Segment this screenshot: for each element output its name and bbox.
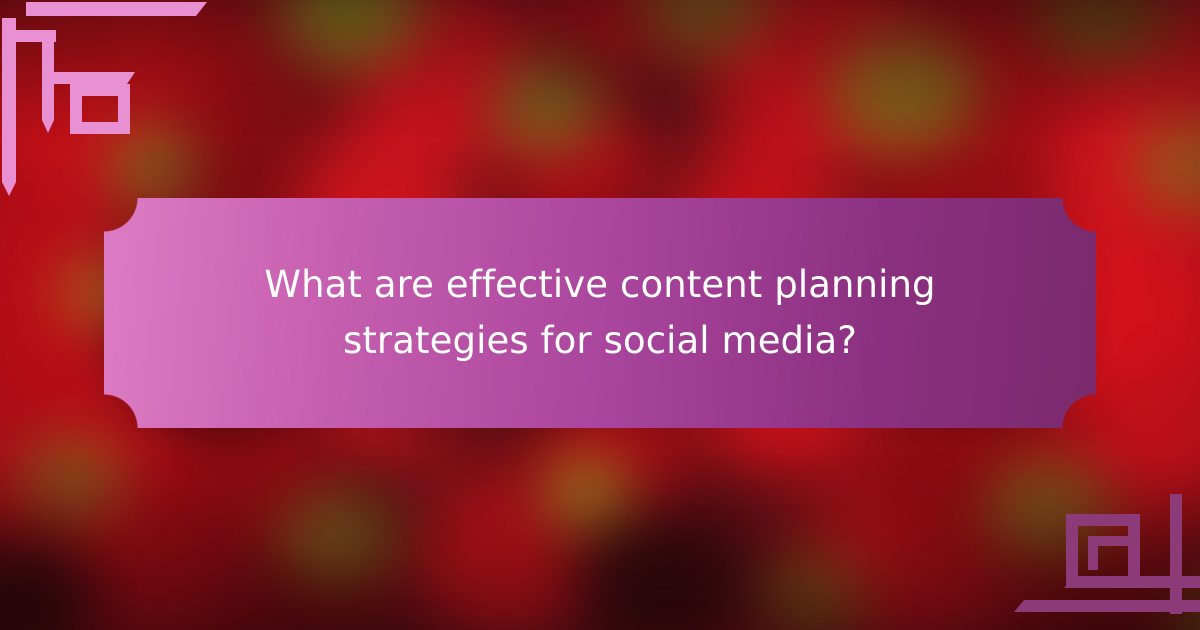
ornament-br-square-left	[1066, 514, 1078, 588]
ornament-br-second-bar	[1064, 576, 1200, 588]
ornament-br-outer-vertical	[1170, 494, 1182, 614]
ornament-second-bar	[54, 72, 135, 84]
quote-card: What are effective content planning stra…	[0, 0, 1200, 630]
ornament-square-bottom	[70, 122, 130, 134]
top-left-corner-ornament	[0, 0, 230, 210]
ornament-outer-vertical	[2, 18, 16, 196]
headline-text: What are effective content planning stra…	[170, 257, 1030, 369]
ornament-top-bar	[26, 2, 207, 16]
ornament-br-inner-left	[1088, 536, 1098, 570]
ornament-inner-vertical	[42, 30, 54, 133]
headline-banner: What are effective content planning stra…	[104, 198, 1096, 428]
bottom-right-corner-ornament	[1010, 480, 1200, 630]
